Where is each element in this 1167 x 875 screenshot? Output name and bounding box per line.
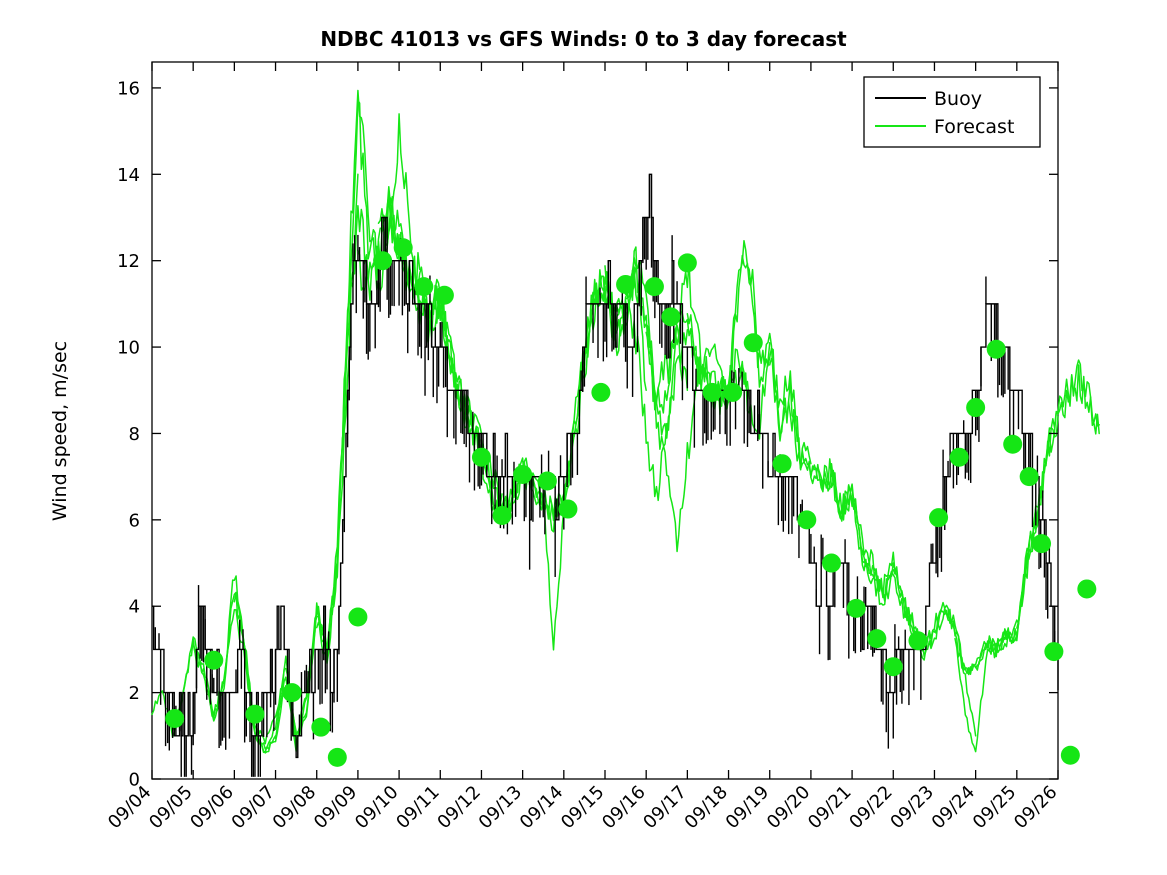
forecast-init-marker <box>472 448 491 467</box>
forecast-init-marker <box>591 383 610 402</box>
x-tick-label: 09/12 <box>433 782 485 834</box>
x-tick-label: 09/18 <box>681 782 733 834</box>
x-tick-label: 09/11 <box>392 782 444 834</box>
x-tick-label: 09/23 <box>886 782 938 834</box>
forecast-init-marker <box>723 383 742 402</box>
forecast-init-marker <box>538 471 557 490</box>
forecast-init-marker <box>773 454 792 473</box>
forecast-init-marker <box>204 651 223 670</box>
chart-plot-area: 0246810121416 09/0409/0509/0609/0709/080… <box>0 0 1167 875</box>
x-tick-label: 09/20 <box>763 782 815 834</box>
legend-label: Buoy <box>934 88 982 110</box>
forecast-init-marker <box>847 599 866 618</box>
x-tick-label: 09/17 <box>639 782 691 834</box>
y-tick-label: 14 <box>117 165 140 186</box>
y-tick-label: 10 <box>117 338 140 359</box>
x-tick-label: 09/25 <box>969 782 1021 834</box>
forecast-init-marker <box>703 383 722 402</box>
forecast-init-marker <box>493 506 512 525</box>
x-tick-label: 09/10 <box>351 782 403 834</box>
x-tick-label: 09/06 <box>186 782 238 834</box>
x-tick-label: 09/14 <box>516 782 568 834</box>
forecast-init-marker <box>867 629 886 648</box>
forecast-init-marker <box>645 277 664 296</box>
forecast-run-line <box>955 506 1037 752</box>
forecast-run-line <box>893 565 1017 674</box>
y-axis-ticks: 0246810121416 <box>117 78 1058 790</box>
forecast-init-marker <box>165 709 184 728</box>
forecast-init-marker <box>1020 467 1039 486</box>
forecast-init-marker <box>513 465 532 484</box>
x-tick-label: 09/16 <box>598 782 650 834</box>
x-tick-label: 09/15 <box>557 782 609 834</box>
y-tick-label: 2 <box>129 683 140 704</box>
forecast-series-group <box>152 90 1099 752</box>
figure-container: NDBC 41013 vs GFS Winds: 0 to 3 day fore… <box>0 0 1167 875</box>
y-tick-label: 4 <box>129 597 140 618</box>
x-tick-label: 09/05 <box>145 782 197 834</box>
legend-label: Forecast <box>934 116 1014 138</box>
x-tick-label: 09/09 <box>310 782 362 834</box>
forecast-init-marker <box>414 277 433 296</box>
forecast-init-marker <box>884 657 903 676</box>
forecast-init-marker <box>373 251 392 270</box>
forecast-init-marker <box>987 340 1006 359</box>
forecast-init-marker <box>1061 746 1080 765</box>
forecast-init-marker <box>661 307 680 326</box>
y-tick-label: 6 <box>129 510 140 531</box>
forecast-init-marker <box>1003 435 1022 454</box>
chart-legend[interactable]: BuoyForecast <box>864 77 1040 147</box>
x-tick-label: 09/13 <box>475 782 527 834</box>
forecast-init-marker <box>929 508 948 527</box>
forecast-init-marker <box>797 510 816 529</box>
forecast-init-marker <box>245 705 264 724</box>
forecast-init-marker <box>394 238 413 257</box>
forecast-init-marker <box>435 286 454 305</box>
forecast-init-marker <box>744 333 763 352</box>
forecast-init-marker <box>1032 534 1051 553</box>
x-tick-label: 09/21 <box>804 782 856 834</box>
forecast-init-marker <box>558 500 577 519</box>
forecast-init-marker <box>1044 642 1063 661</box>
forecast-run-line <box>317 114 441 657</box>
forecast-init-marker <box>678 253 697 272</box>
forecast-init-marker <box>616 275 635 294</box>
forecast-init-marker <box>311 718 330 737</box>
x-tick-label: 09/07 <box>228 782 280 834</box>
x-tick-label: 09/22 <box>845 782 897 834</box>
forecast-init-marker <box>822 554 841 573</box>
forecast-init-marker <box>908 631 927 650</box>
x-tick-label: 09/24 <box>928 782 980 834</box>
y-tick-label: 16 <box>117 78 140 99</box>
forecast-init-marker <box>966 398 985 417</box>
x-tick-label: 09/26 <box>1010 782 1062 834</box>
forecast-init-marker <box>283 683 302 702</box>
forecast-run-line <box>234 174 358 753</box>
forecast-init-marker <box>950 448 969 467</box>
y-tick-label: 12 <box>117 251 140 272</box>
forecast-init-marker <box>1077 579 1096 598</box>
forecast-init-marker <box>328 748 347 767</box>
y-tick-label: 8 <box>129 424 140 445</box>
x-tick-label: 09/08 <box>269 782 321 834</box>
x-tick-label: 09/19 <box>722 782 774 834</box>
forecast-init-marker <box>348 608 367 627</box>
